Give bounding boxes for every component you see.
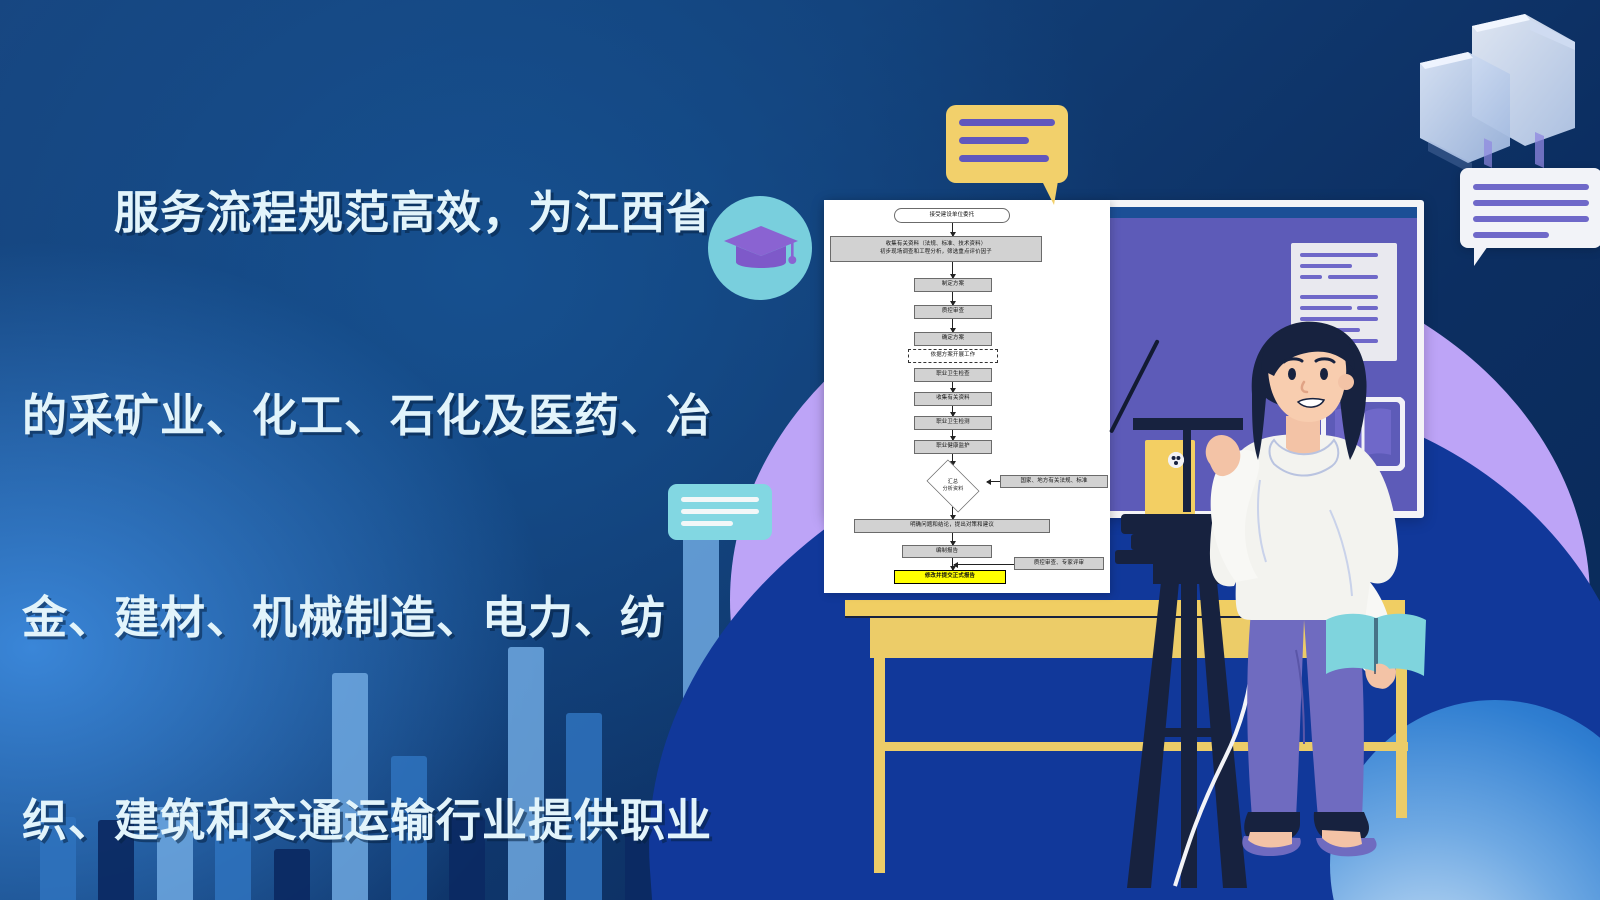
headline-line-2: 的采矿业、化工、石化及医药、冶 [22,382,782,450]
flow-node-n11: 汇总 分析资料 [922,465,984,507]
flow-arrow [952,223,953,236]
flow-node-n2: 收集有关资料（法规、标准、技术资料） 初步现场调查和工程分析，筛选重点评价因子 [830,236,1042,262]
flow-node-n4: 质控审查 [914,305,992,319]
flow-node-n9: 职业卫生检测 [914,416,992,430]
flow-node-n6: 依据方案开展工作 [908,349,998,363]
flow-arrow [952,262,953,278]
flow-arrow [954,564,1014,565]
headline-line-3: 金、建材、机械制造、电力、纺 [22,584,782,652]
headline-line-4: 织、建筑和交通运输行业提供职业 [22,787,782,855]
workflow-diagram: 接受建设单位委托 收集有关资料（法规、标准、技术资料） 初步现场调查和工程分析，… [824,200,1110,593]
poster-canvas: 服务流程规范高效，为江西省 的采矿业、化工、石化及医药、冶 金、建材、机械制造、… [0,0,1600,900]
speech-bubble-icon [1460,168,1600,248]
flow-node-n10: 职业健康监护 [914,440,992,454]
flow-node-n8: 收集有关资料 [914,392,992,406]
flow-arrow [952,292,953,305]
flow-arrow [952,382,953,392]
flow-side-note-s1: 国家、地方有关法规、标准 [1000,475,1108,488]
flow-arrow [952,533,953,545]
flow-node-n5: 确定方案 [914,332,992,346]
flow-node-n11-label: 汇总 分析资料 [943,479,964,493]
presenter-figure [1200,320,1450,860]
flow-node-n7: 职业卫生检查 [914,368,992,382]
flowchart: 接受建设单位委托 收集有关资料（法规、标准、技术资料） 初步现场调查和工程分析，… [824,200,1110,593]
flow-arrow [952,507,953,519]
flow-arrow [952,406,953,416]
flow-node-n1: 接受建设单位委托 [894,208,1010,223]
speech-bubble-icon [946,105,1068,183]
flow-arrow [987,481,1000,482]
desk-leg-left [874,658,885,873]
flow-node-n3: 制定方案 [914,278,992,292]
flow-side-note-s2: 质控审查、专家评审 [1014,557,1104,570]
page-title: 服务流程规范高效，为江西省 的采矿业、化工、石化及医药、冶 金、建材、机械制造、… [22,44,782,900]
flow-node-n14: 修改并提交正式报告 [894,570,1006,584]
instrument-knob-icon [1168,452,1184,468]
books-icon [1380,8,1590,178]
headline-line-1: 服务流程规范高效，为江西省 [22,179,782,247]
flow-arrow [952,319,953,332]
flow-node-n12: 明确问题和结论，提出对策和建议 [854,519,1050,533]
flow-arrow [952,430,953,440]
flow-node-n13: 编制报告 [902,545,992,558]
